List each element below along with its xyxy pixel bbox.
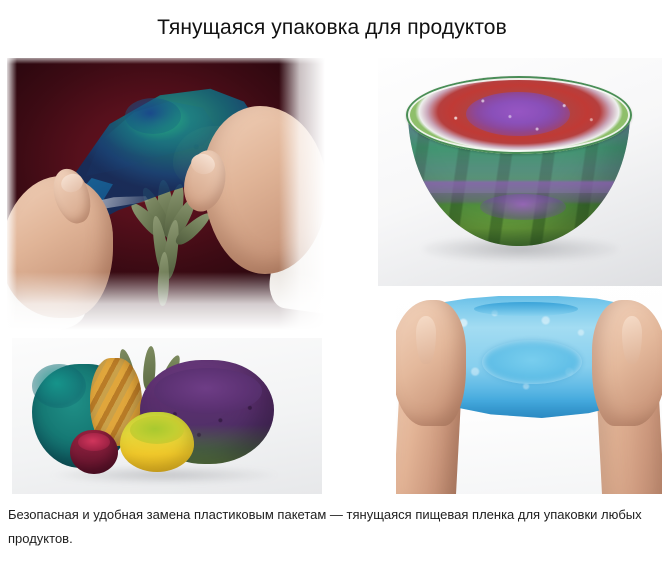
photo-fade-top: [7, 58, 325, 64]
finger-right: [622, 316, 642, 364]
lemon-lid-green: [130, 416, 184, 444]
blue-film-top-ridge: [474, 302, 578, 316]
fruit-lemon: [120, 412, 194, 472]
page-title: Тянущаяся упаковка для продуктов: [0, 14, 664, 42]
pineapple-lid-teal: [32, 364, 86, 408]
photo-fade-left: [7, 58, 17, 330]
page-root: Тянущаяся упаковка для продуктов: [0, 0, 664, 578]
blue-film-center-disc: [482, 340, 582, 384]
photo-fruits-with-lids: [12, 338, 322, 494]
hand-left-blue: [396, 300, 466, 426]
fruit-red-onion: [70, 430, 118, 474]
stretch-lid-center-dimple: [125, 98, 181, 134]
image-collage: [0, 56, 664, 496]
watermelon-lid-purple: [154, 368, 262, 414]
photo-blue-film-hands: [396, 286, 662, 494]
photo-watermelon-bowl: [378, 58, 662, 286]
watermelon-green-rim: [406, 76, 632, 154]
photo-pineapple-hands: [7, 58, 325, 330]
hand-right-blue: [592, 300, 662, 426]
page-caption: Безопасная и удобная замена пластиковым …: [8, 503, 654, 551]
photo-fade-bottom: [7, 272, 325, 330]
onion-lid-red: [78, 433, 110, 451]
finger-left: [416, 316, 436, 364]
watermelon-cut-surface: [406, 76, 632, 154]
watermelon-film-dimple: [480, 194, 566, 220]
